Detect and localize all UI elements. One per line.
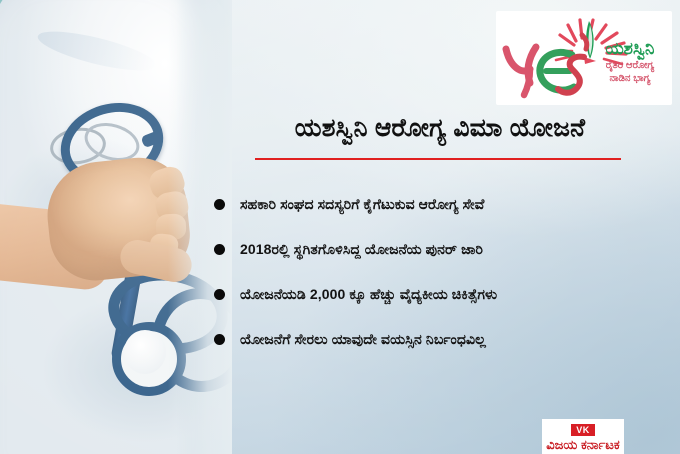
- list-item: 2018ರಲ್ಲಿ ಸ್ಥಗಿತಗೊಳಿಸಿದ್ದ ಯೋಜನೆಯ ಪುನರ್ ಜ…: [214, 227, 666, 272]
- bullet-text: ಯೋಜನೆಗೆ ಸೇರಲು ಯಾವುದೇ ವಯಸ್ಸಿನ ನಿರ್ಬಂಧವಿಲ್…: [240, 331, 486, 348]
- poster-root: ಯಶಸ್ವಿನಿ ರೈತರ ಆರೋಗ್ಯ ನಾಡಿನ ಭಾಗ್ಯ ಯಶಸ್ವಿನ…: [0, 0, 680, 454]
- bullet-dot-icon: [214, 199, 225, 210]
- title-underline: [255, 158, 621, 160]
- list-item: ಸಹಕಾರಿ ಸಂಘದ ಸದಸ್ಯರಿಗೆ ಕೈಗೆಟುಕುವ ಆರೋಗ್ಯ ಸ…: [214, 182, 666, 227]
- bullet-text: ಯೋಜನೆಯಡಿ 2,000 ಕ್ಕೂ ಹೆಚ್ಚು ವೈದ್ಯಕೀಯ ಚಿಕಿ…: [240, 286, 497, 303]
- doctor-photo: [0, 0, 232, 454]
- bullet-text: 2018ರಲ್ಲಿ ಸ್ಥಗಿತಗೊಳಿಸಿದ್ದ ಯೋಜನೆಯ ಪುನರ್ ಜ…: [240, 241, 483, 258]
- bullet-dot-icon: [214, 334, 225, 345]
- list-item: ಯೋಜನೆಯಡಿ 2,000 ಕ್ಕೂ ಹೆಚ್ಚು ವೈದ್ಯಕೀಯ ಚಿಕಿ…: [214, 272, 666, 317]
- list-item: ಯೋಜನೆಗೆ ಸೇರಲು ಯಾವುದೇ ವಯಸ್ಸಿನ ನಿರ್ಬಂಧವಿಲ್…: [214, 317, 666, 362]
- bullet-dot-icon: [214, 289, 225, 300]
- yashasvini-logo-card: ಯಶಸ್ವಿನಿ ರೈತರ ಆರೋಗ್ಯ ನಾಡಿನ ಭಾಗ್ಯ: [496, 11, 672, 105]
- bullet-text: ಸಹಕಾರಿ ಸಂಘದ ಸದಸ್ಯರಿಗೆ ಕೈಗೆಟುಕುವ ಆರೋಗ್ಯ ಸ…: [240, 196, 484, 213]
- bullet-list: ಸಹಕಾರಿ ಸಂಘದ ಸದಸ್ಯರಿಗೆ ಕೈಗೆಟುಕುವ ಆರೋಗ್ಯ ಸ…: [214, 182, 666, 362]
- logo-name-kannada: ಯಶಸ್ವಿನಿ: [590, 39, 670, 59]
- logo-tagline-line2: ನಾಡಿನ ಭಾಗ್ಯ: [590, 72, 670, 85]
- page-title: ಯಶಸ್ವಿನಿ ಆರೋಗ್ಯ ವಿಮಾ ಯೋಜನೆ: [220, 113, 660, 144]
- logo-tagline-line1: ರೈತರ ಆರೋಗ್ಯ: [590, 59, 670, 72]
- vk-name: ವಿಜಯ ಕರ್ನಾಟಕ: [546, 438, 619, 452]
- vk-mark: VK: [571, 424, 595, 436]
- watermark-tag: VK ವಿಜಯ ಕರ್ನಾಟಕ: [542, 419, 623, 454]
- watermark: VK ವಿಜಯ ಕರ್ನಾಟಕ: [527, 419, 639, 454]
- bullet-dot-icon: [214, 244, 225, 255]
- stethoscope-diaphragm: [124, 330, 166, 374]
